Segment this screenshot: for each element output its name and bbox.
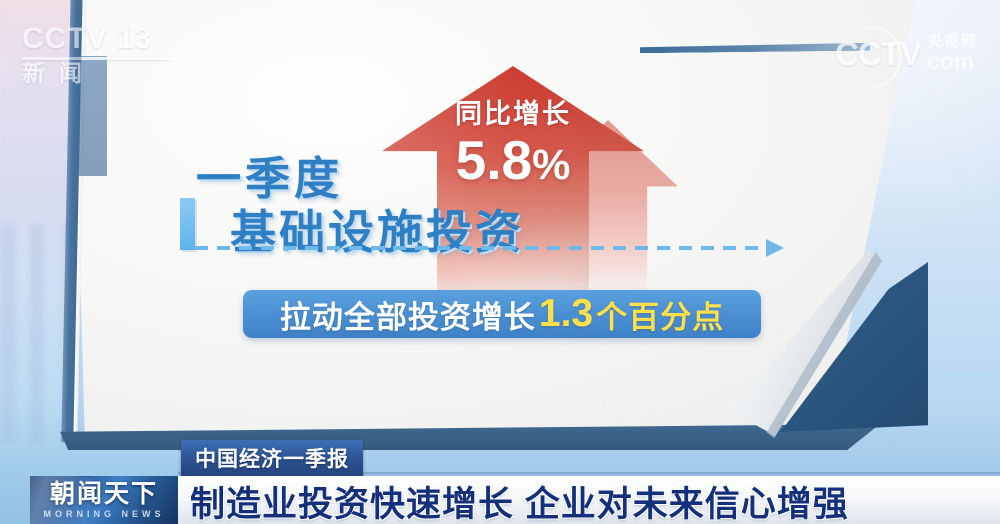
topic-tag: 中国经济一季报 <box>181 440 363 476</box>
site-watermark: CCTV 央视网 com <box>835 34 978 73</box>
watermark-domain: com <box>927 50 978 73</box>
broadcast-screen: 同比增长 5.8% 一季度 基础设施投资 拉动全部投资增长 1.3 个百分点 C… <box>0 0 1000 524</box>
dashed-connector-arrowhead-icon <box>766 239 784 257</box>
headline-accent-bar <box>180 198 195 250</box>
dashed-connector-line <box>195 246 769 250</box>
arrow-stat-value: 5.8% <box>382 132 644 190</box>
arrow-stat-label: 同比增长 <box>382 100 644 130</box>
channel-bug: CCTV 13 新闻 <box>22 24 172 86</box>
watermark-chinese-name: 央视网 <box>927 34 978 49</box>
banner-suffix-text: 个百分点 <box>596 292 724 337</box>
arrow-stat-group: 同比增长 5.8% <box>382 100 644 189</box>
topic-tag-label: 中国经济一季报 <box>195 443 349 473</box>
watermark-text-group: 央视网 com <box>927 34 978 73</box>
channel-bug-name: CCTV 13 <box>22 24 172 54</box>
program-logo-chinese: 朝闻天下 <box>30 482 178 507</box>
arrow-stat-unit: % <box>532 141 570 189</box>
contribution-banner: 拉动全部投资增长 1.3 个百分点 <box>243 290 761 338</box>
banner-prefix-text: 拉动全部投资增长 <box>280 292 536 337</box>
infographic-subject: 基础设施投资 <box>230 196 524 262</box>
program-logo: 朝闻天下 MORNING NEWS <box>30 476 178 524</box>
channel-bug-subname: 新闻 <box>22 62 172 85</box>
program-logo-english: MORNING NEWS <box>30 510 178 519</box>
arrow-stat-number: 5.8 <box>456 129 532 191</box>
news-headline: 制造业投资快速增长 企业对未来信心增强 <box>190 480 990 522</box>
banner-number: 1.3 <box>539 292 593 336</box>
